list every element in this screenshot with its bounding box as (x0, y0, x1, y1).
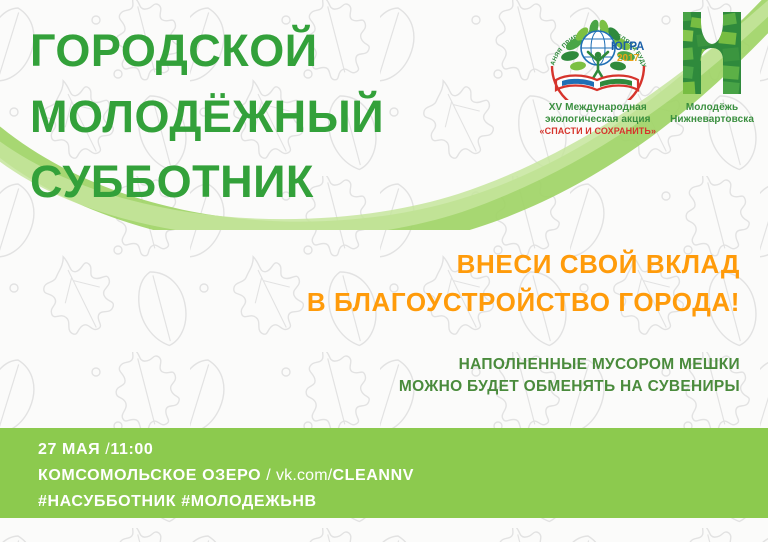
banner-hashtags: #НАСУББОТНИК #МОЛОДЕЖЬНВ (38, 489, 768, 515)
youth-mark-icon (677, 8, 747, 100)
youth-caption-line1: Молодёжь (670, 102, 754, 114)
headline-line-1: ВНЕСИ СВОЙ ВКЛАД (307, 246, 740, 284)
poster-canvas: СОХРАНЯЯ ПРИРОДУ, ОПРЕДЕЛЯЕМ БУДУЩЕЕ (0, 0, 768, 542)
event-place: КОМСОМОЛЬСКОЕ ОЗЕРО (38, 467, 261, 484)
poster-title: ГОРОДСКОЙ МОЛОДЁЖНЫЙ СУББОТНИК (30, 18, 384, 215)
ugra-caption-line3: «СПАСТИ И СОХРАНИТЬ» (540, 126, 657, 137)
title-line-2: МОЛОДЁЖНЫЙ (30, 84, 384, 150)
logo-youth-nizhnevartovsk: Молодёжь Нижневартовска (670, 8, 754, 126)
title-line-1: ГОРОДСКОЙ (30, 18, 384, 84)
ugra-logo-caption: XV Международная экологическая акция «СП… (540, 102, 657, 137)
banner-place-link-line: КОМСОМОЛЬСКОЕ ОЗЕРО / vk.com/CLEANNV (38, 463, 768, 489)
logo-ugra-eco-action: СОХРАНЯЯ ПРИРОДУ, ОПРЕДЕЛЯЕМ БУДУЩЕЕ (540, 8, 657, 137)
call-to-action-headline: ВНЕСИ СВОЙ ВКЛАД В БЛАГОУСТРОЙСТВО ГОРОД… (307, 246, 740, 321)
vk-domain[interactable]: vk.com/ (276, 467, 333, 484)
svg-text:2017: 2017 (617, 53, 640, 64)
headline-line-2: В БЛАГОУСТРОЙСТВО ГОРОДА! (307, 284, 740, 322)
event-details-banner: 27 МАЯ /11:00 КОМСОМОЛЬСКОЕ ОЗЕРО / vk.c… (0, 428, 768, 518)
vk-handle[interactable]: CLEANNV (332, 467, 414, 484)
youth-logo-caption: Молодёжь Нижневартовска (670, 102, 754, 126)
place-separator: / (266, 467, 271, 484)
subtext-line-2: МОЖНО БУДЕТ ОБМЕНЯТЬ НА СУВЕНИРЫ (399, 376, 740, 398)
youth-caption-line2: Нижневартовска (670, 114, 754, 126)
ugra-caption-line1: XV Международная (540, 102, 657, 114)
ugra-caption-line2: экологическая акция (540, 114, 657, 126)
event-time: 11:00 (110, 441, 153, 458)
ugra-emblem-icon: СОХРАНЯЯ ПРИРОДУ, ОПРЕДЕЛЯЕМ БУДУЩЕЕ (544, 8, 652, 100)
subtext-line-1: НАПОЛНЕННЫЕ МУСОРОМ МЕШКИ (399, 354, 740, 376)
banner-datetime-line: 27 МАЯ /11:00 (38, 437, 768, 463)
logo-group: СОХРАНЯЯ ПРИРОДУ, ОПРЕДЕЛЯЕМ БУДУЩЕЕ (540, 8, 754, 137)
title-line-3: СУББОТНИК (30, 149, 384, 215)
incentive-subtext: НАПОЛНЕННЫЕ МУСОРОМ МЕШКИ МОЖНО БУДЕТ ОБ… (399, 354, 740, 399)
event-date: 27 МАЯ (38, 441, 100, 458)
svg-text:ЮГРА: ЮГРА (611, 41, 644, 53)
